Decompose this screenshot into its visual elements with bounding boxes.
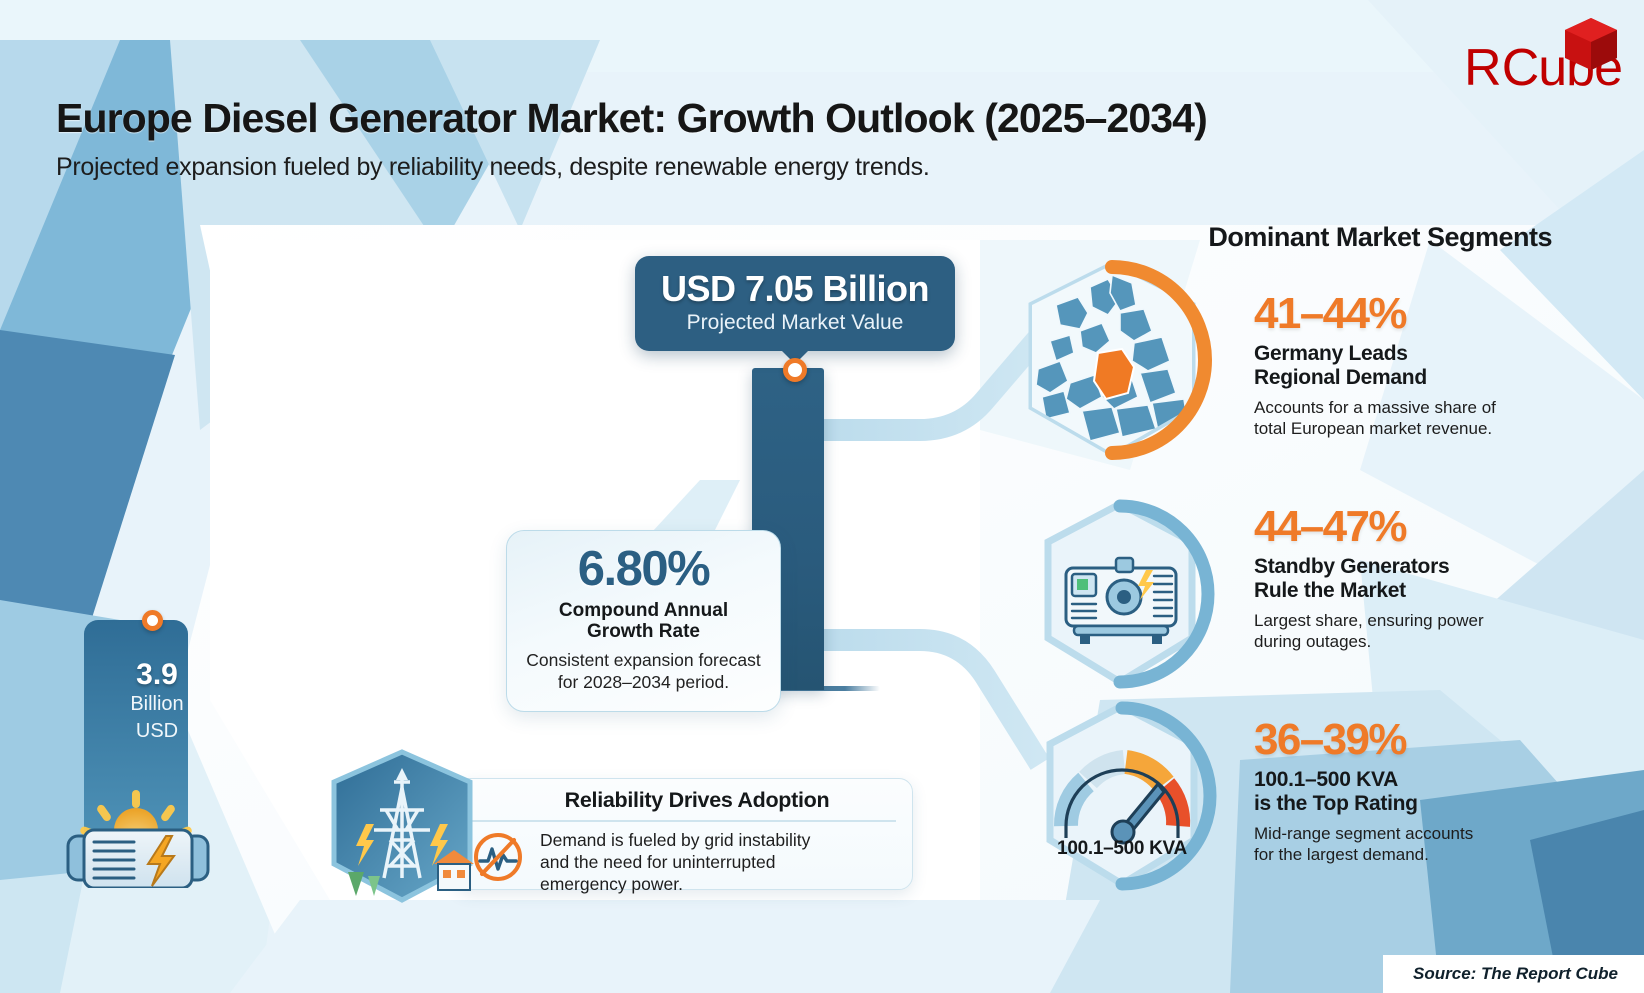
segment-2-desc-line2: during outages. [1254,631,1626,652]
cagr-description: Consistent expansion forecast for 2028–2… [523,650,764,694]
base-value-generator: 3.9 Billion USD [62,618,252,888]
segment-3-description: Mid-range segment accounts for the large… [1254,823,1626,866]
projected-value-label: Projected Market Value [653,311,937,335]
brand-logo-mark: Я [1465,42,1502,94]
reliability-body-line1: Demand is fueled by grid instability [540,829,810,851]
segment-1-heading: Germany Leads Regional Demand [1254,342,1626,391]
cagr-card: 6.80% Compound Annual Growth Rate Consis… [506,530,781,712]
header-block: Europe Diesel Generator Market: Growth O… [56,96,1207,182]
segments-title: Dominant Market Segments [1208,222,1552,253]
base-value-unit-line2: USD [62,720,252,744]
segment-3-percent: 36–39% [1254,718,1626,762]
base-value-unit-line1: Billion [62,693,252,717]
reliability-divider [472,820,896,822]
cagr-heading-line2: Growth Rate [523,621,764,642]
segment-3-desc-line1: Mid-range segment accounts [1254,823,1626,844]
infographic-canvas: ЯCube Europe Diesel Generator Market: Gr… [0,0,1644,993]
projected-value: USD 7.05 Billion [653,270,937,308]
gauge-icon [1024,700,1220,896]
segment-3-heading-line2: is the Top Rating [1254,792,1626,816]
source-note: Source: The Report Cube [1383,955,1644,993]
page-subtitle: Projected expansion fueled by reliabilit… [56,153,1207,182]
segment-2-description: Largest share, ensuring power during out… [1254,610,1626,653]
reliability-heading: Reliability Drives Adoption [498,788,896,813]
segment-3-heading-line1: 100.1–500 KVA [1254,768,1626,792]
generator-icon [1022,498,1218,694]
cagr-desc-line1: Consistent expansion forecast [523,650,764,672]
segment-1-heading-line2: Regional Demand [1254,366,1626,390]
segment-1-percent: 41–44% [1254,292,1626,336]
segment-2-heading-line1: Standby Generators [1254,555,1626,579]
segment-2-desc-line1: Largest share, ensuring power [1254,610,1626,631]
cagr-heading-line1: Compound Annual [523,600,764,621]
segment-kva-rating: 36–39% 100.1–500 KVA is the Top Rating M… [1254,718,1626,865]
projected-value-callout: USD 7.05 Billion Projected Market Value [635,256,955,351]
page-title: Europe Diesel Generator Market: Growth O… [56,96,1207,142]
europe-map-icon [1016,257,1216,483]
base-value-number: 3.9 [62,660,252,690]
cagr-desc-line2: for 2028–2034 period. [523,672,764,694]
segment-3-heading: 100.1–500 KVA is the Top Rating [1254,768,1626,817]
reliability-card: Reliability Drives Adoption Demand is fu… [455,778,913,890]
segment-1-heading-line1: Germany Leads [1254,342,1626,366]
brand-logo: ЯCube [1465,8,1622,94]
segment-1-description: Accounts for a massive share of total Eu… [1254,397,1626,440]
reliability-body-line2: and the need for uninterrupted [540,851,810,873]
reliability-body-line3: emergency power. [540,873,810,895]
segment-2-percent: 44–47% [1254,505,1626,549]
powerline-hex-icon [322,748,482,908]
bar-top-marker-icon [783,358,807,382]
segment-standby-generators: 44–47% Standby Generators Rule the Marke… [1254,505,1626,652]
reliability-body: Demand is fueled by grid instability and… [540,829,810,895]
germany-highlight [1094,349,1134,399]
base-value-text: 3.9 Billion USD [62,660,252,743]
cube-icon [1560,14,1622,76]
segment-germany: 41–44% Germany Leads Regional Demand Acc… [1254,292,1626,439]
cagr-percent: 6.80% [523,545,764,594]
base-value-marker-icon [142,610,163,631]
segment-3-desc-line2: for the largest demand. [1254,844,1626,865]
segment-1-desc-line2: total European market revenue. [1254,418,1626,439]
cagr-heading: Compound Annual Growth Rate [523,600,764,643]
segment-2-heading-line2: Rule the Market [1254,579,1626,603]
segment-2-heading: Standby Generators Rule the Market [1254,555,1626,604]
segment-1-desc-line1: Accounts for a massive share of [1254,397,1626,418]
gauge-caption: 100.1–500 KVA [1024,838,1220,860]
